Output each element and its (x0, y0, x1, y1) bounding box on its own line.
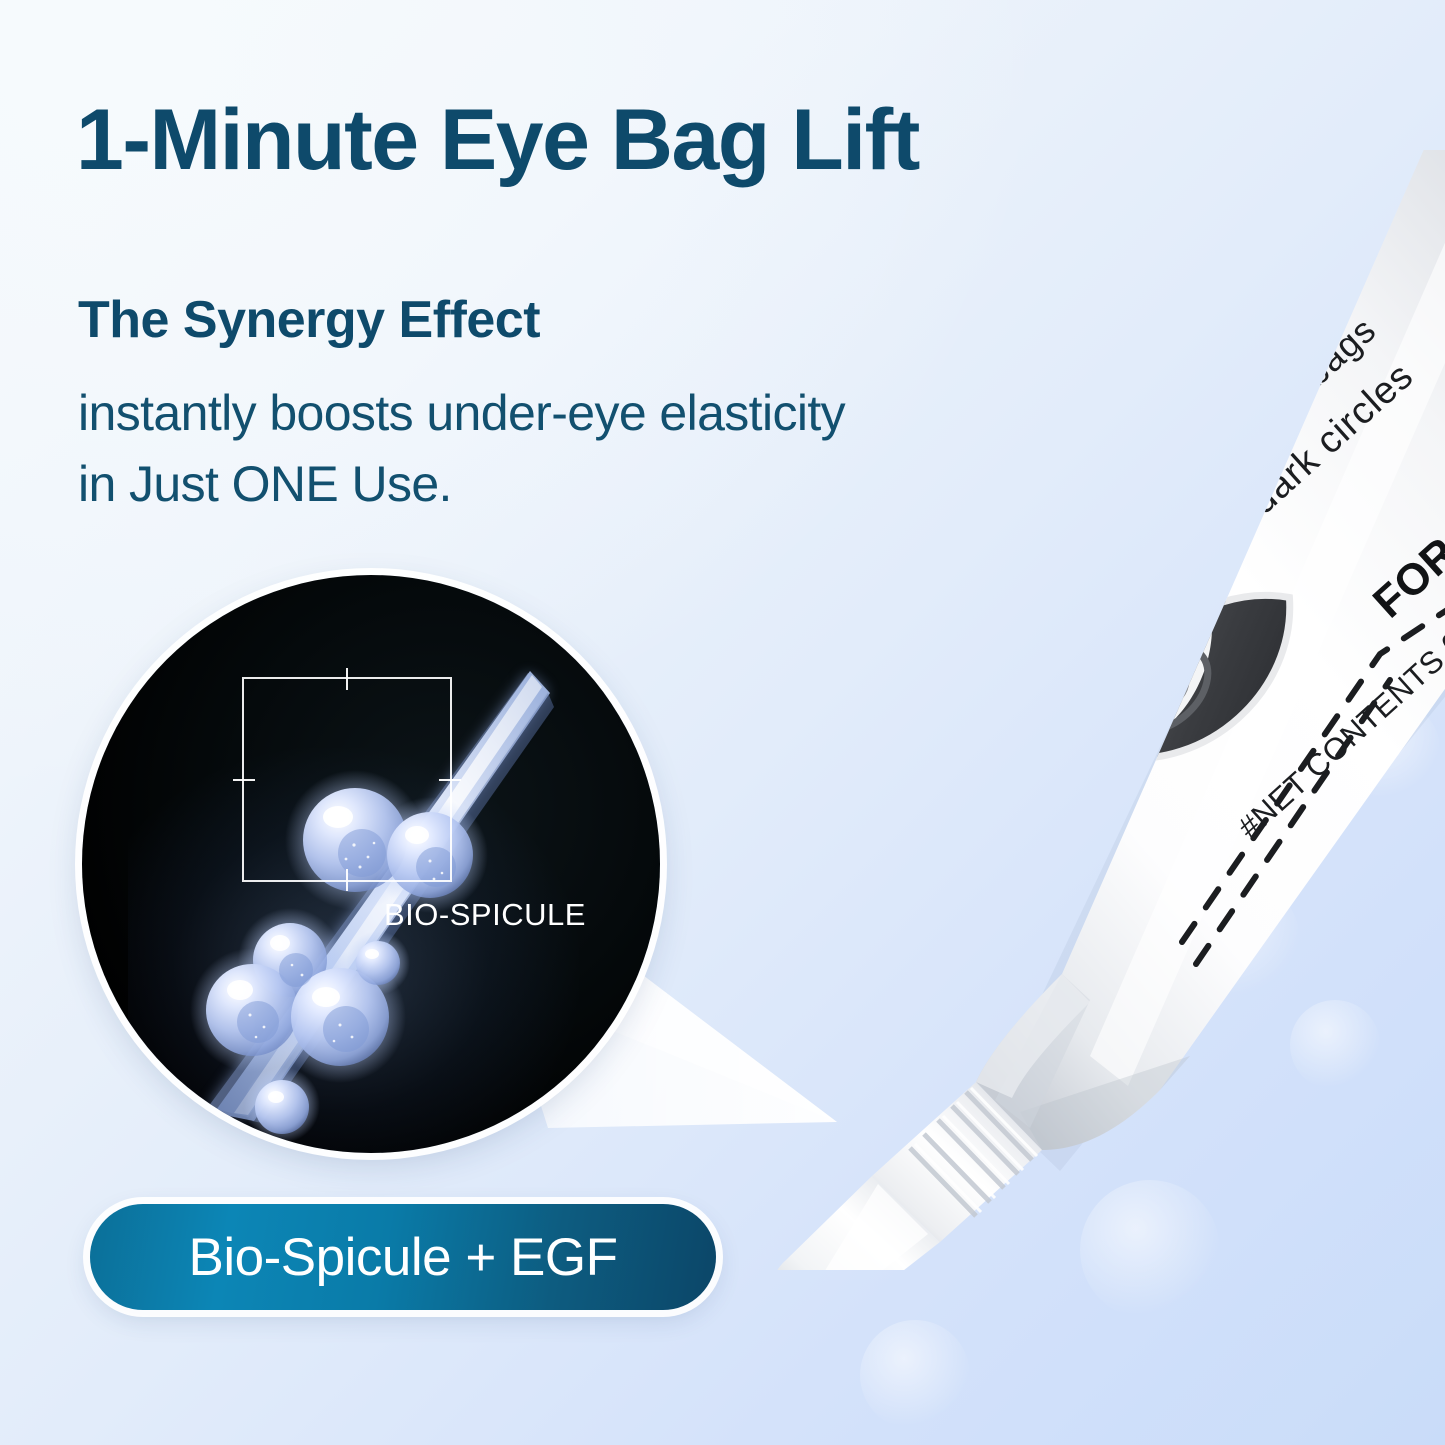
bokeh-decor (860, 1320, 970, 1430)
bracket-tick-top (346, 668, 348, 690)
bokeh-decor (1080, 1180, 1220, 1320)
tube-claim-line-1: Effective for (1140, 308, 1303, 460)
product-tube-image: Effective for under eye-bags and dark ci… (690, 150, 1445, 1270)
eye-logo (1075, 556, 1326, 798)
body-copy: instantly boosts under-eye elasticity in… (78, 378, 1098, 520)
tube-nozzle (772, 1176, 940, 1270)
body-copy-line-1: instantly boosts under-eye elasticity (78, 378, 1098, 449)
tube-claim-line-3: and dark circles (1184, 355, 1422, 575)
tube-claim-lines: Effective for under eye-bags and dark ci… (1140, 308, 1422, 575)
bracket-tick-right (439, 779, 461, 781)
section-subtitle: The Synergy Effect (78, 292, 540, 349)
tube-skin-type: FOR ALL SKIN (1364, 383, 1445, 628)
bokeh-decor (1180, 880, 1300, 1000)
bokeh-decor (1340, 700, 1440, 800)
focus-bracket (242, 677, 452, 882)
tube-dashed-panel (1182, 516, 1445, 942)
bio-spicule-label: BIO-SPICULE (384, 897, 586, 933)
bracket-tick-left (233, 779, 255, 781)
body-copy-line-2: in Just ONE Use. (78, 449, 1098, 520)
tube-neck (872, 1082, 1042, 1242)
tube-shoulder (976, 974, 1090, 1098)
product-marketing-banner: 1-Minute Eye Bag Lift The Synergy Effect… (0, 0, 1445, 1445)
tube-net-contents: #NET CONTENTS 0.33 fl.oz. U.S. (1231, 495, 1445, 845)
page-title: 1-Minute Eye Bag Lift (76, 96, 1226, 185)
ingredient-badge-label: Bio-Spicule + EGF (189, 1227, 618, 1288)
tube-dashed-panel-2 (1196, 680, 1390, 964)
tube-printed-artwork: Effective for under eye-bags and dark ci… (1075, 206, 1445, 964)
macro-detail-circle: BIO-SPICULE (82, 575, 660, 1153)
bokeh-decor (1290, 1000, 1380, 1090)
tube-body (976, 150, 1445, 1150)
tube-claim-line-2: under eye-bags (1160, 309, 1384, 516)
bracket-tick-bottom (346, 869, 348, 891)
ingredient-badge[interactable]: Bio-Spicule + EGF (90, 1204, 716, 1310)
